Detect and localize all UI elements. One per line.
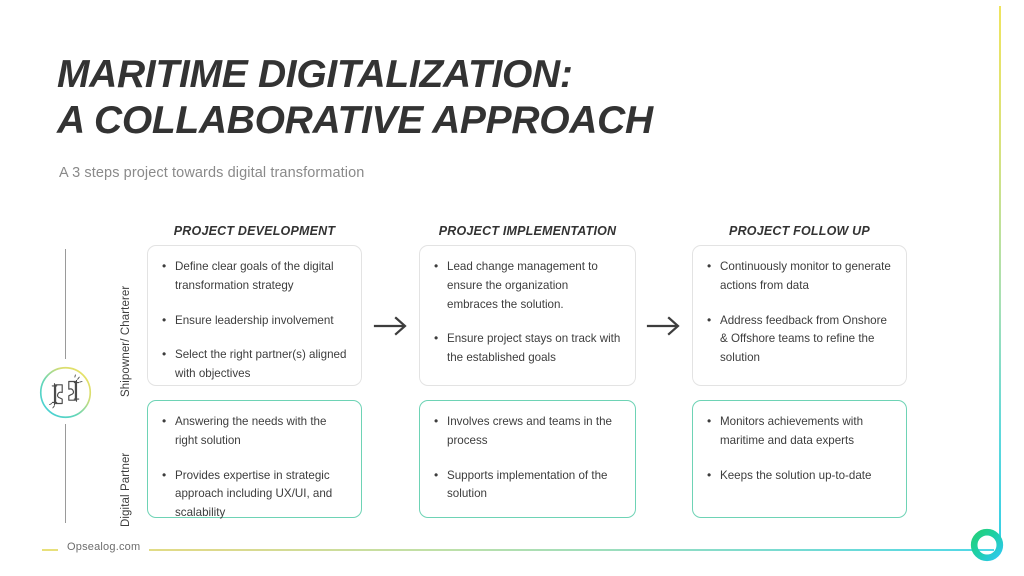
bullet-list: Define clear goals of the digital transf… <box>162 258 347 384</box>
page-title: MARITIME DIGITALIZATION: A COLLABORATIVE… <box>57 52 837 143</box>
list-item: Answering the needs with the right solut… <box>162 413 347 451</box>
page-subtitle: A 3 steps project towards digital transf… <box>59 165 364 181</box>
card-followup-shipowner: Continuously monitor to generate actions… <box>692 245 907 386</box>
opsealog-ring-logo <box>968 526 1006 564</box>
card-development-shipowner: Define clear goals of the digital transf… <box>147 245 362 386</box>
row-rail-bottom <box>65 424 66 523</box>
list-item: Select the right partner(s) aligned with… <box>162 346 347 384</box>
list-item: Lead change management to ensure the org… <box>434 258 621 314</box>
row-label-digital-partner: Digital Partner <box>120 453 132 527</box>
card-followup-partner: Monitors achievements with maritime and … <box>692 400 907 518</box>
list-item: Keeps the solution up-to-date <box>707 467 892 486</box>
column-header-project-development: PROJECT DEVELOPMENT <box>147 224 362 238</box>
list-item: Involves crews and teams in the process <box>434 413 621 451</box>
arrow-right-icon <box>370 308 414 344</box>
bullet-list: Lead change management to ensure the org… <box>434 258 621 368</box>
list-item: Monitors achievements with maritime and … <box>707 413 892 451</box>
card-implementation-partner: Involves crews and teams in the process … <box>419 400 636 518</box>
list-item: Address feedback from Onshore & Offshore… <box>707 312 892 368</box>
right-gradient-rail <box>999 6 1001 544</box>
handshake-puzzle-icon <box>38 365 93 420</box>
slide-canvas: MARITIME DIGITALIZATION: A COLLABORATIVE… <box>0 0 1024 576</box>
list-item: Ensure leadership involvement <box>162 312 347 331</box>
card-development-partner: Answering the needs with the right solut… <box>147 400 362 518</box>
list-item: Define clear goals of the digital transf… <box>162 258 347 296</box>
column-header-project-implementation: PROJECT IMPLEMENTATION <box>419 224 636 238</box>
row-rail-top <box>65 249 66 359</box>
footer-website[interactable]: Opsealog.com <box>58 541 149 553</box>
list-item: Supports implementation of the solution <box>434 467 621 505</box>
list-item: Provides expertise in strategic approach… <box>162 467 347 523</box>
bullet-list: Monitors achievements with maritime and … <box>707 413 892 485</box>
card-implementation-shipowner: Lead change management to ensure the org… <box>419 245 636 386</box>
list-item: Continuously monitor to generate actions… <box>707 258 892 296</box>
column-header-project-follow-up: PROJECT FOLLOW UP <box>692 224 907 238</box>
bullet-list: Involves crews and teams in the process … <box>434 413 621 504</box>
footer-divider <box>42 549 994 551</box>
arrow-right-icon <box>643 308 687 344</box>
bullet-list: Continuously monitor to generate actions… <box>707 258 892 368</box>
row-label-shipowner-charterer: Shipowner/ Charterer <box>120 286 132 397</box>
list-item: Ensure project stays on track with the e… <box>434 330 621 368</box>
bullet-list: Answering the needs with the right solut… <box>162 413 347 523</box>
